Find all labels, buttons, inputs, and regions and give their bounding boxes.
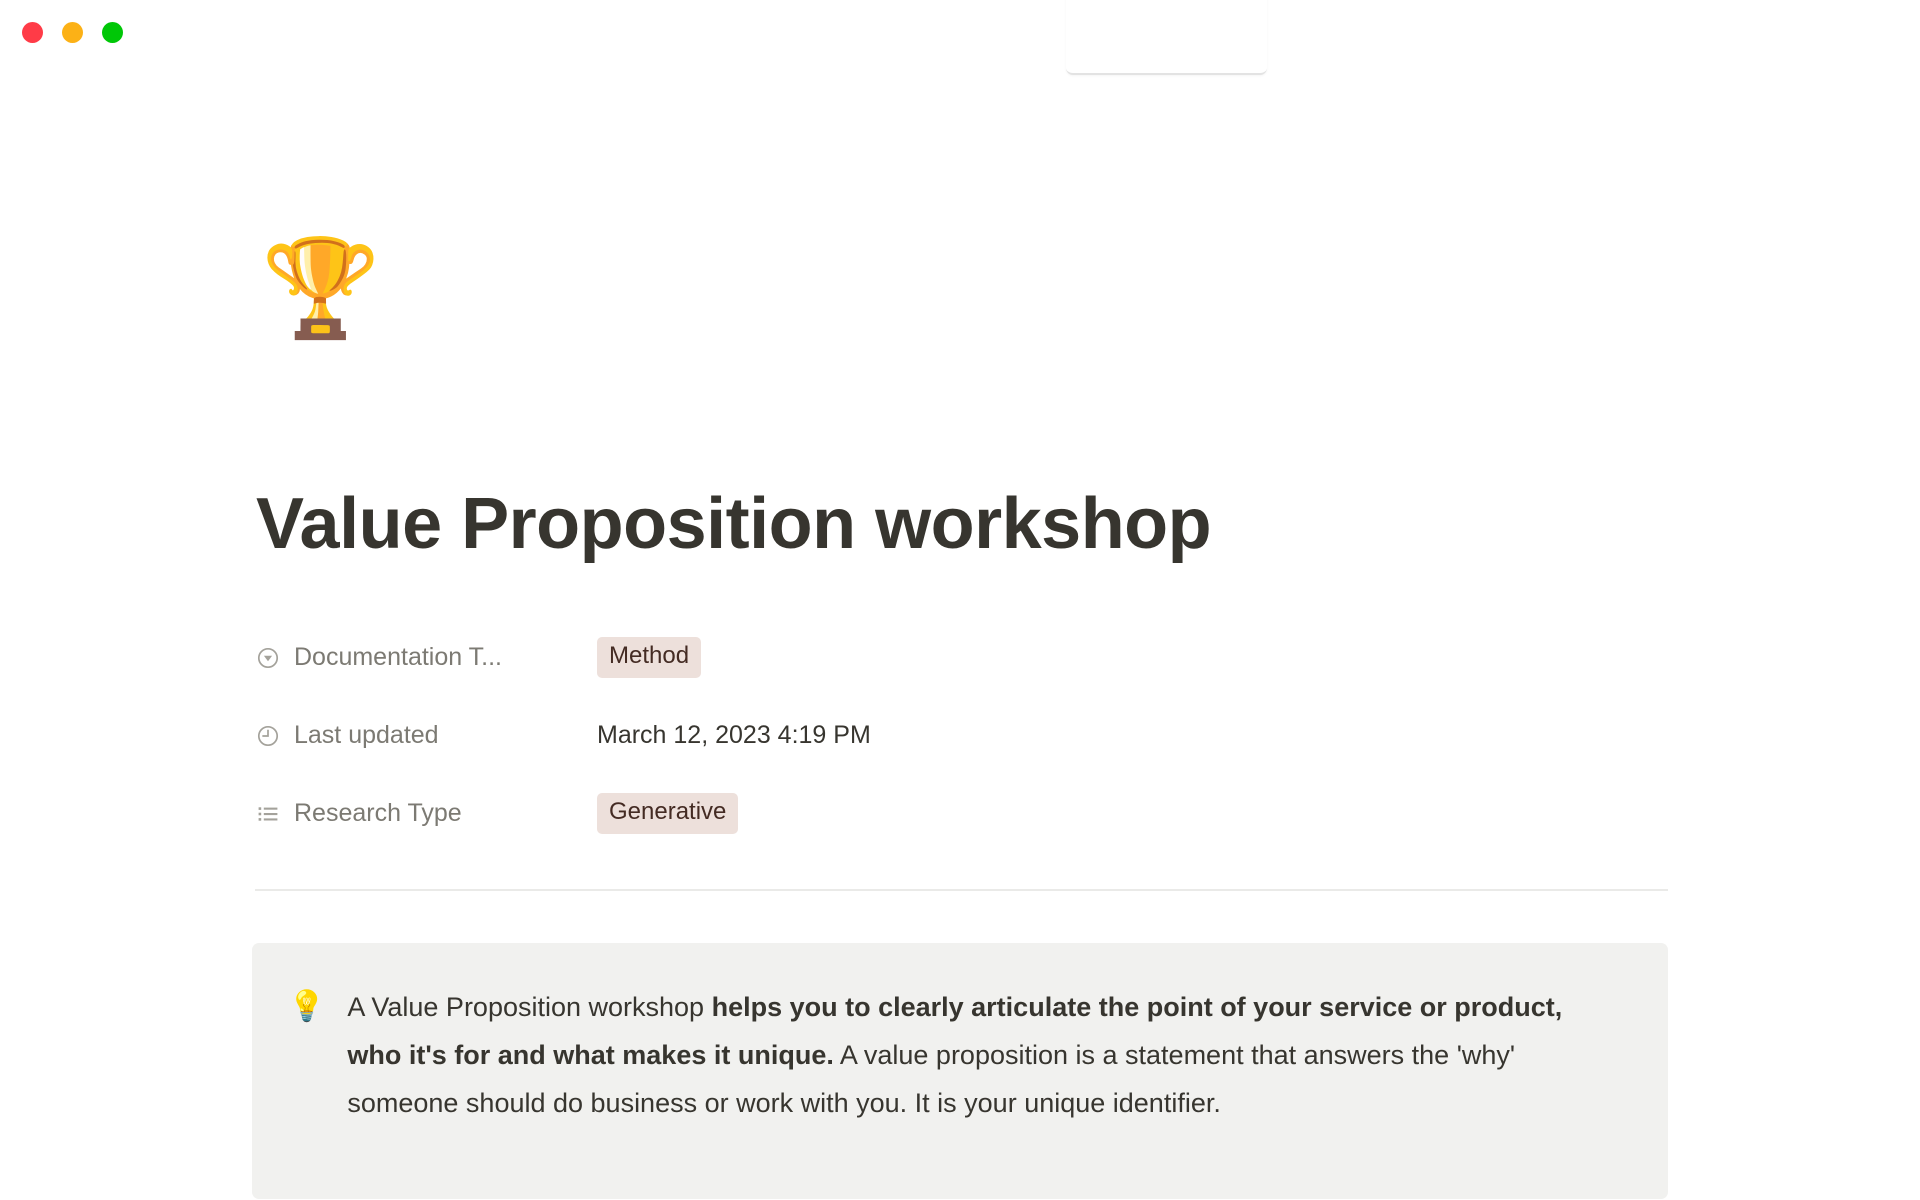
page-title[interactable]: Value Proposition workshop [256,486,1656,564]
status-badge[interactable]: Generative [597,793,738,834]
page-root: 🏆 Value Proposition workshop Documentati… [0,0,1920,1200]
property-value-documentation-type[interactable]: Method [597,637,701,678]
property-row-documentation-type[interactable]: Documentation T... Method [256,634,1668,681]
bulleted-list-icon [256,802,280,826]
select-chevron-circle-icon [256,646,280,670]
callout-text: A Value Proposition workshop helps you t… [347,983,1622,1127]
close-window-button[interactable] [22,22,43,43]
property-label-research-type[interactable]: Research Type [256,799,597,828]
property-name-text: Last updated [294,721,439,750]
page-properties: Documentation T... Method Last updated M… [256,634,1668,837]
property-name-text: Research Type [294,799,462,828]
property-label-documentation-type[interactable]: Documentation T... [256,643,597,672]
property-value-last-updated[interactable]: March 12, 2023 4:19 PM [597,721,871,750]
window-traffic-lights [22,22,123,43]
minimize-window-button[interactable] [62,22,83,43]
property-name-text: Documentation T... [294,643,502,672]
property-row-last-updated[interactable]: Last updated March 12, 2023 4:19 PM [256,712,1668,759]
property-label-last-updated[interactable]: Last updated [256,721,597,750]
page-icon-emoji[interactable]: 🏆 [261,241,381,337]
status-badge[interactable]: Method [597,637,701,678]
property-row-research-type[interactable]: Research Type Generative [256,790,1668,837]
light-bulb-emoji[interactable]: 💡 [288,983,325,1031]
timestamp-text: March 12, 2023 4:19 PM [597,721,871,750]
callout-block[interactable]: 💡 A Value Proposition workshop helps you… [252,943,1668,1199]
section-divider [255,889,1668,891]
clock-icon [256,724,280,748]
property-value-research-type[interactable]: Generative [597,793,738,834]
top-floating-panel-stub[interactable] [1066,0,1267,75]
callout-text-lead: A Value Proposition workshop [347,992,711,1022]
maximize-window-button[interactable] [102,22,123,43]
